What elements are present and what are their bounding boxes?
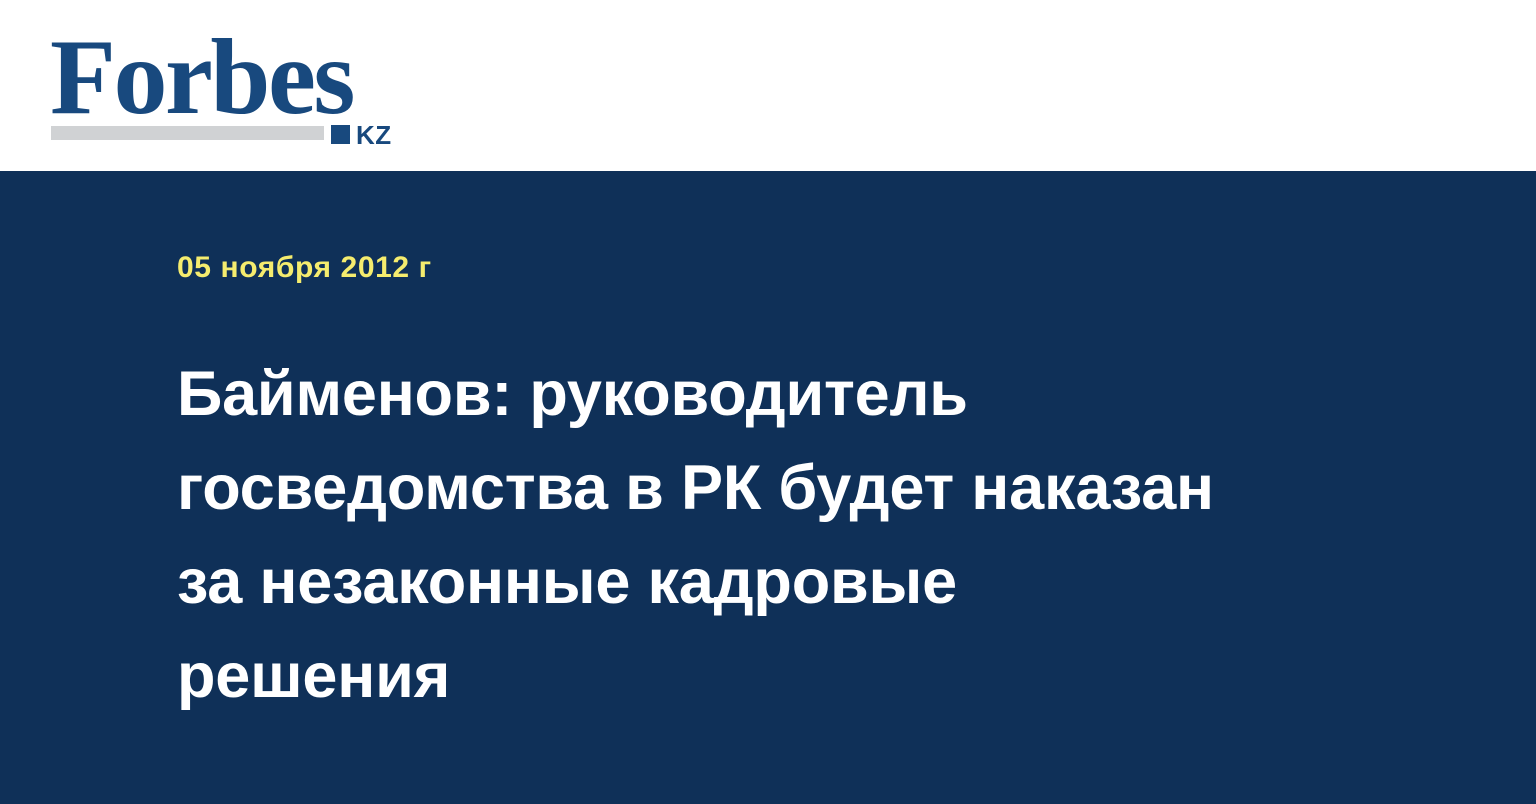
headline-line-4: решения: [177, 629, 1407, 723]
article-hero-panel: 05 ноября 2012 г Байменов: руководитель …: [0, 171, 1536, 804]
headline-line-1: Байменов: руководитель: [177, 347, 1407, 441]
site-masthead: Forbes KZ: [0, 0, 1536, 171]
headline-line-2: госведомства в РК будет наказан: [177, 441, 1407, 535]
article-card-page: Forbes KZ 05 ноября 2012 г Байменов: рук…: [0, 0, 1536, 804]
logo-wordmark-text: Forbes: [50, 22, 353, 134]
logo-domain-suffix-text: KZ: [356, 122, 392, 148]
article-publish-date: 05 ноября 2012 г: [177, 251, 432, 285]
forbes-kz-logo[interactable]: Forbes KZ: [50, 22, 410, 148]
headline-line-3: за незаконные кадровые: [177, 535, 1407, 629]
logo-gray-rule-divider: [51, 126, 324, 140]
article-headline: Байменов: руководитель госведомства в РК…: [177, 347, 1407, 723]
blue-square-icon: [331, 125, 350, 144]
